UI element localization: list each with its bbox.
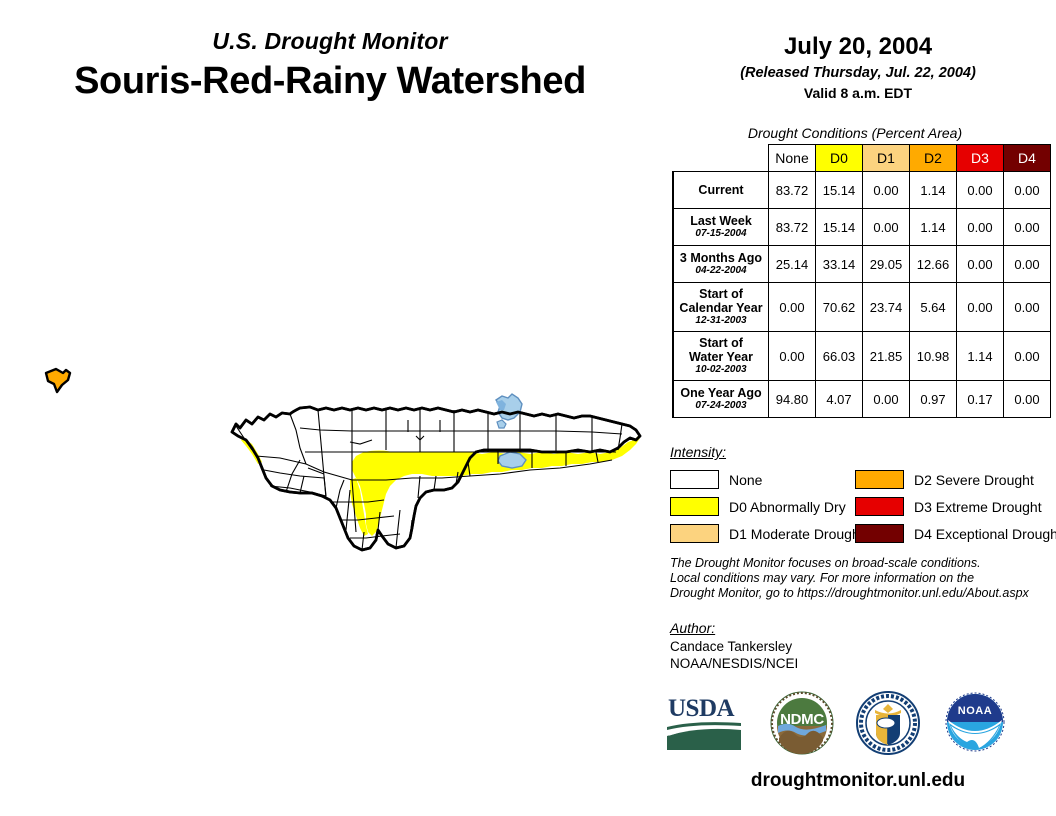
disclaimer: The Drought Monitor focuses on broad-sca…	[670, 556, 1050, 601]
table-cell-d4: 0.00	[1004, 381, 1051, 418]
row-label-text: 3 Months Ago	[676, 251, 766, 265]
noaa-logo: NOAA	[943, 690, 1007, 754]
table-cell-d4: 0.00	[1004, 209, 1051, 246]
legend-label: D2 Severe Drought	[914, 472, 1034, 488]
table-header-d4: D4	[1004, 145, 1051, 172]
legend-column-left: NoneD0 Abnormally DryD1 Moderate Drought	[670, 468, 864, 549]
valid-date: July 20, 2004	[660, 33, 1056, 61]
legend-item: D3 Extreme Drought	[855, 495, 1056, 518]
author-name: Candace Tankersley	[670, 638, 798, 655]
row-label: Last Week07-15-2004	[673, 209, 769, 246]
legend-item: D2 Severe Drought	[855, 468, 1056, 491]
table-header-d3: D3	[957, 145, 1004, 172]
table-cell-d0: 66.03	[816, 332, 863, 381]
author-affiliation: NOAA/NESDIS/NCEI	[670, 655, 798, 672]
author-block: Candace Tankersley NOAA/NESDIS/NCEI	[670, 638, 798, 672]
table-cell-d1: 0.00	[863, 381, 910, 418]
table-cell-d2: 10.98	[910, 332, 957, 381]
map-region-detached-d2	[46, 369, 70, 392]
row-label-text: Calendar Year	[676, 301, 766, 315]
title-block: U.S. Drought Monitor Souris-Red-Rainy Wa…	[0, 28, 660, 103]
table-cell-d1: 0.00	[863, 209, 910, 246]
row-label-text: Start of	[676, 287, 766, 301]
row-label-date: 07-24-2003	[676, 400, 766, 412]
release-date: (Released Thursday, Jul. 22, 2004)	[660, 65, 1056, 81]
row-label-date: 12-31-2003	[676, 315, 766, 327]
table-cell-d3: 0.00	[957, 246, 1004, 283]
table-cell-d1: 23.74	[863, 283, 910, 332]
watershed-map	[0, 340, 660, 600]
table-cell-d0: 4.07	[816, 381, 863, 418]
table-cell-d4: 0.00	[1004, 172, 1051, 209]
legend-item: D4 Exceptional Drought	[855, 522, 1056, 545]
table-cell-d2: 0.97	[910, 381, 957, 418]
intensity-legend-title: Intensity:	[670, 444, 726, 460]
table-cell-d4: 0.00	[1004, 332, 1051, 381]
usda-logo: USDA	[665, 690, 743, 752]
row-label-text: Start of	[676, 336, 766, 350]
row-label: Start ofCalendar Year12-31-2003	[673, 283, 769, 332]
disclaimer-line-2: Local conditions may vary. For more info…	[670, 571, 1050, 586]
table-cell-d0: 15.14	[816, 209, 863, 246]
row-label-text: Last Week	[676, 214, 766, 228]
table-cell-d0: 33.14	[816, 246, 863, 283]
row-label-date: 04-22-2004	[676, 265, 766, 277]
legend-swatch	[670, 497, 719, 516]
legend-label: D1 Moderate Drought	[729, 526, 864, 542]
table-caption: Drought Conditions (Percent Area)	[660, 125, 1050, 141]
program-title: U.S. Drought Monitor	[0, 28, 660, 55]
doc-seal-logo	[855, 690, 921, 756]
table-cell-d1: 0.00	[863, 172, 910, 209]
table-cell-d4: 0.00	[1004, 246, 1051, 283]
table-row: Current83.7215.140.001.140.000.00	[673, 172, 1051, 209]
table-cell-d4: 0.00	[1004, 283, 1051, 332]
table-row: Last Week07-15-200483.7215.140.001.140.0…	[673, 209, 1051, 246]
table-cell-d2: 1.14	[910, 209, 957, 246]
row-label-text: Current	[676, 183, 766, 197]
table-cell-d3: 0.00	[957, 172, 1004, 209]
legend-label: D3 Extreme Drought	[914, 499, 1042, 515]
map-svg	[0, 340, 660, 600]
table-row: One Year Ago07-24-200394.804.070.000.970…	[673, 381, 1051, 418]
legend-label: None	[729, 472, 762, 488]
table-cell-d0: 15.14	[816, 172, 863, 209]
legend-swatch	[855, 497, 904, 516]
row-label-date: 10-02-2003	[676, 364, 766, 376]
table-header-row: NoneD0D1D2D3D4	[673, 145, 1051, 172]
drought-conditions-table: NoneD0D1D2D3D4Current83.7215.140.001.140…	[672, 144, 1051, 418]
table-header-d0: D0	[816, 145, 863, 172]
svg-text:USDA: USDA	[668, 695, 735, 722]
legend-column-right: D2 Severe DroughtD3 Extreme DroughtD4 Ex…	[855, 468, 1056, 549]
table-row: Start ofWater Year10-02-20030.0066.0321.…	[673, 332, 1051, 381]
table-header-none: None	[769, 145, 816, 172]
legend-label: D0 Abnormally Dry	[729, 499, 846, 515]
table-cell-d2: 1.14	[910, 172, 957, 209]
table-cell-none: 83.72	[769, 172, 816, 209]
table-cell-d1: 21.85	[863, 332, 910, 381]
legend-item: None	[670, 468, 864, 491]
table-row: 3 Months Ago04-22-200425.1433.1429.0512.…	[673, 246, 1051, 283]
table-row: Start ofCalendar Year12-31-20030.0070.62…	[673, 283, 1051, 332]
row-label-date: 07-15-2004	[676, 228, 766, 240]
table-header-d1: D1	[863, 145, 910, 172]
row-label: Current	[673, 172, 769, 209]
table-header-d2: D2	[910, 145, 957, 172]
table-cell-none: 25.14	[769, 246, 816, 283]
legend-swatch	[855, 524, 904, 543]
table-cell-none: 94.80	[769, 381, 816, 418]
legend-item: D0 Abnormally Dry	[670, 495, 864, 518]
legend-label: D4 Exceptional Drought	[914, 526, 1056, 542]
svg-text:NDMC: NDMC	[780, 711, 824, 728]
table-cell-d2: 12.66	[910, 246, 957, 283]
svg-text:NOAA: NOAA	[958, 705, 992, 717]
table-cell-d3: 0.00	[957, 209, 1004, 246]
table-cell-none: 0.00	[769, 332, 816, 381]
legend-swatch	[670, 470, 719, 489]
valid-time: Valid 8 a.m. EDT	[660, 85, 1056, 101]
date-block: July 20, 2004 (Released Thursday, Jul. 2…	[660, 33, 1056, 101]
legend-swatch	[670, 524, 719, 543]
legend-swatch	[855, 470, 904, 489]
table-cell-d3: 1.14	[957, 332, 1004, 381]
table-cell-d3: 0.00	[957, 283, 1004, 332]
row-label: 3 Months Ago04-22-2004	[673, 246, 769, 283]
table-corner-cell	[673, 145, 769, 172]
disclaimer-line-1: The Drought Monitor focuses on broad-sca…	[670, 556, 1050, 571]
table-cell-none: 0.00	[769, 283, 816, 332]
row-label-text: Water Year	[676, 350, 766, 364]
table-cell-d2: 5.64	[910, 283, 957, 332]
disclaimer-line-3: Drought Monitor, go to https://droughtmo…	[670, 586, 1050, 601]
row-label-text: One Year Ago	[676, 386, 766, 400]
table-cell-d1: 29.05	[863, 246, 910, 283]
logo-row: USDA NDMC NOAA	[665, 690, 1035, 760]
site-url: droughtmonitor.unl.edu	[660, 770, 1056, 792]
row-label: One Year Ago07-24-2003	[673, 381, 769, 418]
table-cell-none: 83.72	[769, 209, 816, 246]
author-label: Author:	[670, 620, 715, 636]
legend-item: D1 Moderate Drought	[670, 522, 864, 545]
ndmc-logo: NDMC	[769, 690, 835, 756]
page-title: Souris-Red-Rainy Watershed	[0, 60, 660, 103]
row-label: Start ofWater Year10-02-2003	[673, 332, 769, 381]
table-cell-d3: 0.17	[957, 381, 1004, 418]
table-cell-d0: 70.62	[816, 283, 863, 332]
